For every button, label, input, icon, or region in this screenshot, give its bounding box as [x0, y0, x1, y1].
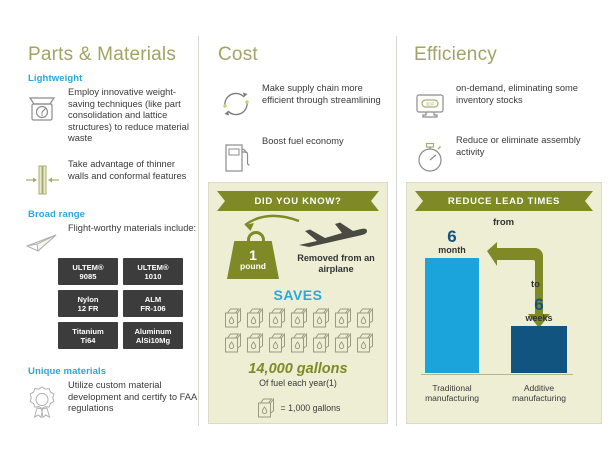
fuel-can-icon [256, 397, 276, 419]
fuel-can-legend-text: = 1,000 gallons [281, 403, 341, 413]
material-chip-grid: ULTEM® 9085 ULTEM® 1010 Nylon 12 FR ALM … [58, 258, 184, 354]
fuel-can-icon [311, 332, 331, 354]
chart-baseline [421, 374, 573, 375]
reduce-lead-times-ribbon: REDUCE LEAD TIMES [415, 191, 593, 211]
parts-section-title: Parts & Materials [28, 44, 176, 66]
bar-label-additive: Additive manufacturing [503, 383, 575, 403]
print-on-demand-icon: 3DP [410, 84, 450, 124]
bar-traditional-manufacturing [425, 258, 479, 373]
subheading-lightweight: Lightweight [28, 73, 82, 84]
to-label: to [531, 279, 540, 290]
saves-label: SAVES [209, 287, 387, 303]
bullet-lightweight-1-text: Employ innovative weight-saving techniqu… [68, 87, 198, 145]
fuel-can-row [223, 307, 375, 329]
additive-value-unit: weeks [507, 313, 571, 323]
fuel-can-icon [223, 307, 243, 329]
subheading-unique-materials: Unique materials [28, 366, 106, 377]
infographic-root: Parts & Materials Lightweight Employ inn… [0, 0, 610, 456]
fuel-can-row [223, 332, 375, 354]
chip-row: Titanium Ti64 Aluminum AlSi10Mg [58, 322, 184, 349]
weight-unit: pound [240, 262, 266, 271]
fuel-can-icon [289, 332, 309, 354]
fuel-can-icon [245, 332, 265, 354]
gallons-subtext: Of fuel each year(1) [209, 378, 387, 388]
bullet-unique-materials-1-text: Utilize custom material development and … [68, 380, 198, 415]
scale-icon [22, 88, 62, 128]
material-chip[interactable]: ALM FR-106 [123, 290, 183, 317]
material-chip[interactable]: Titanium Ti64 [58, 322, 118, 349]
gallons-value: 14,000 gallons [209, 361, 387, 377]
fuel-can-icon [245, 307, 265, 329]
efficiency-section-title: Efficiency [414, 44, 497, 66]
fuel-can-icon [355, 332, 375, 354]
fuel-can-icon [267, 307, 287, 329]
column-efficiency: Efficiency 3DP on-demand, eliminating so… [396, 0, 610, 456]
bullet-broad-range-1-text: Flight-worthy materials include: [68, 223, 198, 235]
lead-times-bar-chart: from to 6 month 6 weeks Traditional manu… [407, 217, 601, 417]
fuel-can-icon [333, 307, 353, 329]
cost-section-title: Cost [218, 44, 258, 66]
column-cost: Cost Make supply chain more efficient th… [198, 0, 396, 456]
chip-line1: ULTEM® [72, 263, 103, 272]
fuel-can-legend: = 1,000 gallons [209, 397, 387, 419]
fuel-can-icon [223, 332, 243, 354]
traditional-value-number: 6 [421, 228, 483, 245]
fuel-pump-icon [216, 137, 256, 177]
svg-text:3DP: 3DP [426, 102, 435, 107]
bar-additive-manufacturing [511, 326, 567, 373]
chip-line2: 9085 [80, 272, 97, 281]
bullet-efficiency-2-text: Reduce or eliminate assembly activity [456, 135, 586, 158]
chip-row: Nylon 12 FR ALM FR-106 [58, 290, 184, 317]
chip-row: ULTEM® 9085 ULTEM® 1010 [58, 258, 184, 285]
subheading-broad-range: Broad range [28, 209, 85, 220]
chip-line1: ULTEM® [137, 263, 168, 272]
fuel-can-icon [311, 307, 331, 329]
fuel-can-icon [355, 307, 375, 329]
material-chip[interactable]: ULTEM® 9085 [58, 258, 118, 285]
airplane-icon [295, 219, 369, 249]
bar-label-traditional: Traditional manufacturing [417, 383, 487, 403]
traditional-value-unit: month [421, 245, 483, 255]
fuel-can-grid [223, 307, 375, 357]
fuel-can-icon [289, 307, 309, 329]
chip-line1: Nylon [77, 295, 98, 304]
traditional-value-label: 6 month [421, 228, 483, 255]
chip-line2: AlSi10Mg [136, 336, 170, 345]
material-chip[interactable]: ULTEM® 1010 [123, 258, 183, 285]
weight-body: 1 pound [227, 241, 279, 279]
bullet-cost-1-text: Make supply chain more efficient through… [262, 83, 392, 106]
removed-from-airplane-label: Removed from an airplane [293, 253, 379, 275]
chip-line2: FR-106 [140, 304, 165, 313]
from-label: from [493, 217, 514, 228]
cycle-arrows-icon [216, 84, 256, 124]
chip-line1: Titanium [72, 327, 104, 336]
additive-value-number: 6 [507, 296, 571, 313]
chip-line1: Aluminum [134, 327, 171, 336]
fuel-can-icon [333, 332, 353, 354]
paper-plane-icon [22, 224, 62, 264]
did-you-know-ribbon: DID YOU KNOW? [217, 191, 379, 211]
thin-wall-icon [22, 160, 62, 200]
bullet-lightweight-2-text: Take advantage of thinner walls and conf… [68, 159, 198, 182]
chip-line2: 1010 [145, 272, 162, 281]
chip-line2: Ti64 [80, 336, 95, 345]
did-you-know-panel: DID YOU KNOW? 1 pound Removed from an ai… [208, 182, 388, 424]
material-chip[interactable]: Nylon 12 FR [58, 290, 118, 317]
stopwatch-icon [410, 136, 450, 176]
additive-value-label: 6 weeks [507, 296, 571, 323]
bullet-efficiency-1-text: on-demand, eliminating some inventory st… [456, 83, 586, 106]
one-pound-weight-icon: 1 pound [227, 231, 279, 279]
reduce-lead-times-panel: REDUCE LEAD TIMES from to 6 month 6 week… [406, 182, 602, 424]
award-ribbon-icon [22, 381, 62, 421]
fuel-can-icon [267, 332, 287, 354]
material-chip[interactable]: Aluminum AlSi10Mg [123, 322, 183, 349]
chip-line1: ALM [145, 295, 161, 304]
bullet-cost-2-text: Boost fuel economy [262, 136, 392, 148]
chip-line2: 12 FR [78, 304, 99, 313]
column-parts-materials: Parts & Materials Lightweight Employ inn… [0, 0, 198, 456]
